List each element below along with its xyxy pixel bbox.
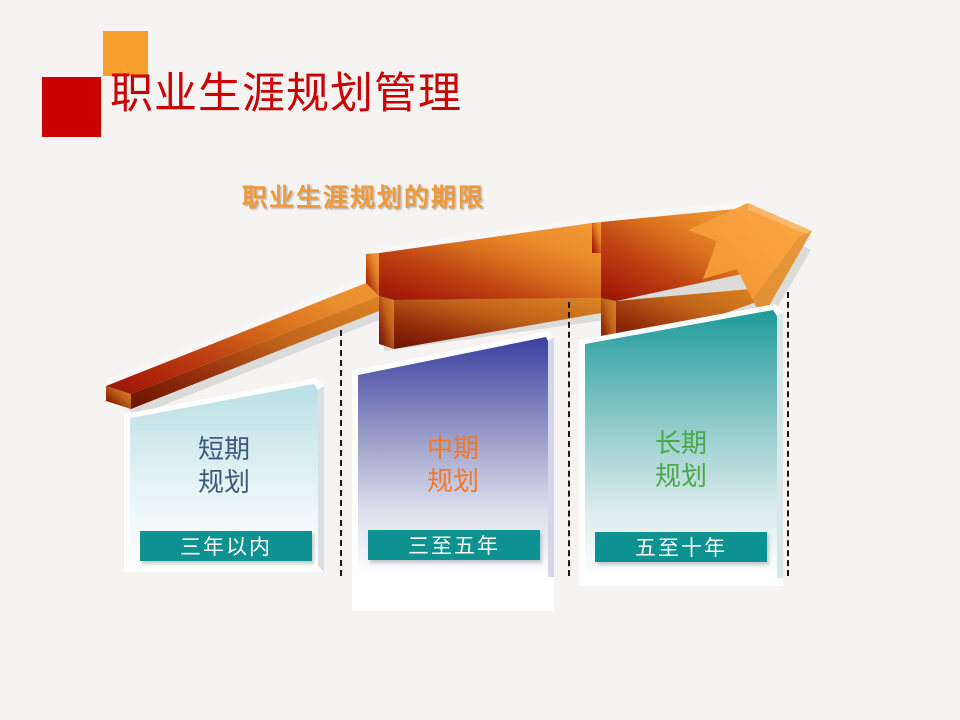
divider-dashed-2	[568, 302, 570, 576]
panel-long-term-label: 长期 规划	[575, 428, 787, 495]
panel-mid-term-banner[interactable]: 三至五年	[368, 530, 540, 560]
divider-dashed-3	[787, 292, 789, 576]
divider-dashed-1	[340, 330, 342, 576]
panel-mid-term[interactable]: 中期 规划 三至五年	[348, 327, 558, 615]
diagram-stage: 短期 规划 三年以内 中期 规划 三至五年	[0, 0, 960, 720]
panel-long-term[interactable]: 长期 规划 五至十年	[575, 300, 787, 590]
panel-long-term-banner[interactable]: 五至十年	[595, 532, 767, 562]
panel-short-term-banner[interactable]: 三年以内	[140, 531, 312, 561]
panel-short-term-label: 短期 规划	[118, 434, 330, 501]
slide-canvas: 职业生涯规划管理 职业生涯规划的期限	[0, 0, 960, 720]
panel-short-term[interactable]: 短期 规划 三年以内	[118, 372, 330, 576]
panel-mid-term-label: 中期 规划	[348, 433, 558, 500]
